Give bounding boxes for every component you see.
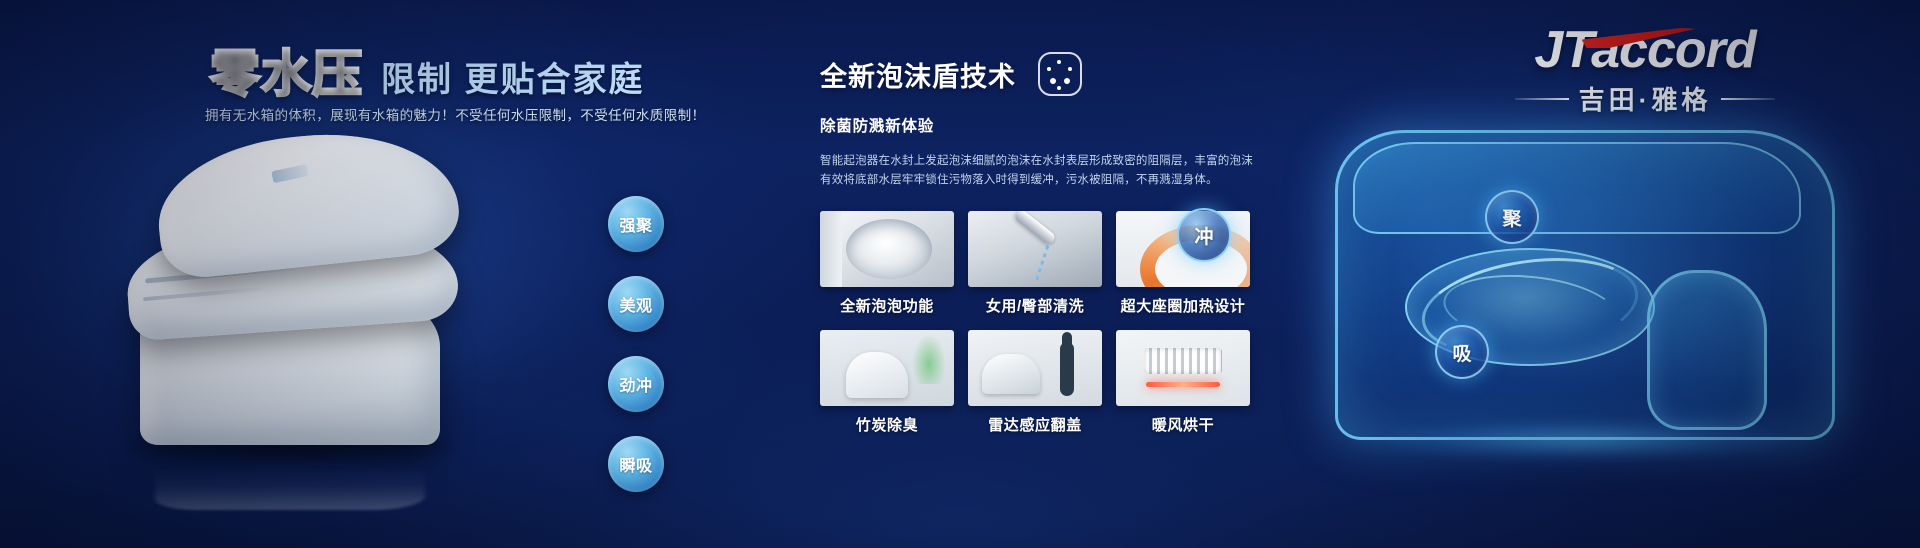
toilet-lid-brand-plate [271,164,309,183]
brand-logo[interactable]: JTaccord 吉田·雅格 [1480,24,1810,117]
feature-card-label-4: 雷达感应翻盖 [968,414,1102,435]
feature-card-5[interactable]: 暖风烘干 [1116,330,1250,435]
smart-toilet-photo [85,130,485,460]
feature-card-label-3: 竹炭除臭 [820,414,954,435]
foam-bubble-icon [1038,52,1082,96]
feature-card-label-5: 暖风烘干 [1116,414,1250,435]
brand-wordmark: JTaccord [1534,24,1755,76]
feature-card-4[interactable]: 雷达感应翻盖 [968,330,1102,435]
left-panel: 零水压 限制 更贴合家庭 拥有无水箱的体积，展现有水箱的魅力！不受任何水压限制，… [0,0,660,548]
xray-siphon-trapway [1647,270,1767,430]
xray-toilet-cutaway: 冲 聚 吸 [1295,120,1895,520]
logo-rule-left [1515,98,1569,100]
product-banner: 零水压 限制 更贴合家庭 拥有无水箱的体积，展现有水箱的魅力！不受任何水压限制，… [0,0,1920,548]
feature-card-1[interactable]: 女用/臀部清洗 [968,211,1102,316]
xray-badge-2[interactable]: 吸 [1435,325,1489,379]
spray-wand-photo [968,211,1102,287]
xray-badge-0[interactable]: 冲 [1177,208,1231,262]
logo-rule-right [1721,98,1775,100]
feature-card-3[interactable]: 竹炭除臭 [820,330,954,435]
feature-card-label-2: 超大座圈加热设计 [1116,295,1250,316]
xray-badge-1[interactable]: 聚 [1485,190,1539,244]
foam-bowl-photo [820,211,954,287]
toilet-reflection [155,466,425,510]
headline-subtext: 限制 更贴合家庭 [381,52,644,101]
bamboo-charcoal-deodorize-photo [820,330,954,406]
center-panel: 全新泡沫盾技术 除菌防溅新体验 智能起泡器在水封上发起泡沫细腻的泡沫在水封表层形… [820,0,1260,548]
brand-chinese-name: 吉田·雅格 [1579,80,1712,117]
center-title-row: 全新泡沫盾技术 [820,52,1260,96]
brand-wordmark-text: JTaccord [1534,21,1755,79]
radar-sensor-lid-photo [968,330,1102,406]
headline-main: 零水压 [210,34,363,106]
feature-card-label-1: 女用/臀部清洗 [968,295,1102,316]
center-subtitle: 除菌防溅新体验 [820,114,1260,136]
xray-lid [1353,142,1801,234]
feature-badge-list: 强聚 美观 劲冲 瞬吸 [608,196,678,516]
xray-base-glow [1385,420,1785,460]
center-title: 全新泡沫盾技术 [820,55,1016,94]
feature-badge-2[interactable]: 劲冲 [608,356,664,412]
right-panel: JTaccord 吉田·雅格 冲 聚 吸 [1260,0,1920,548]
feature-badge-0[interactable]: 强聚 [608,196,664,252]
headline-description: 拥有无水箱的体积，展现有水箱的魅力！不受任何水压限制，不受任何水质限制！ [205,104,705,124]
feature-card-0[interactable]: 全新泡泡功能 [820,211,954,316]
feature-badge-1[interactable]: 美观 [608,276,664,332]
feature-badge-3[interactable]: 瞬吸 [608,436,664,492]
feature-card-label-0: 全新泡泡功能 [820,295,954,316]
center-body-text: 智能起泡器在水封上发起泡沫细腻的泡沫在水封表层形成致密的阻隔层，丰富的泡沫有效将… [820,152,1260,189]
warm-air-dryer-photo [1116,330,1250,406]
headline-row: 零水压 限制 更贴合家庭 [210,34,644,106]
brand-chinese-row: 吉田·雅格 [1480,80,1810,117]
